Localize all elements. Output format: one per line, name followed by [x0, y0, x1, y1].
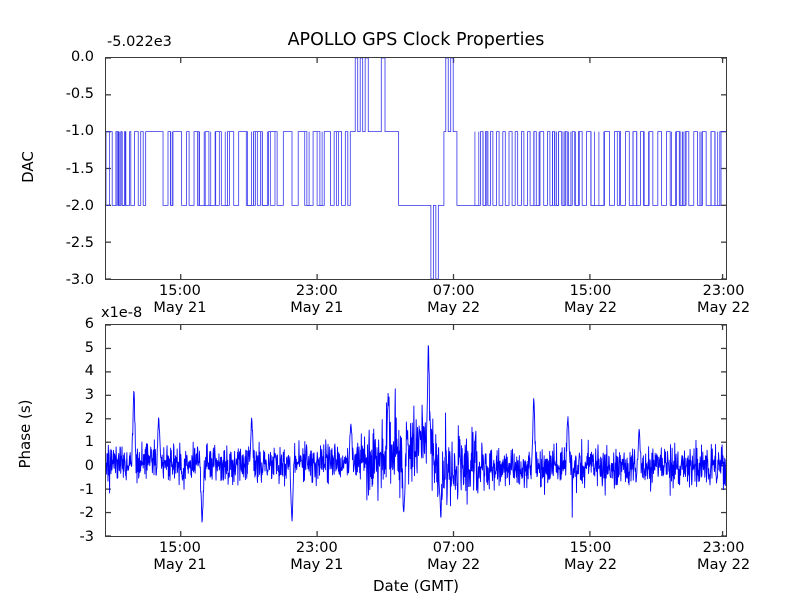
- x-tick-label: 23:00May 22: [697, 283, 750, 317]
- y-tick-label: 5: [85, 340, 100, 356]
- y-tick-label: -0.5: [66, 86, 100, 102]
- y-tick-label: 3: [85, 387, 100, 403]
- y-tick-label: -3: [80, 529, 100, 545]
- y-tick-label: -3.0: [66, 272, 100, 288]
- page-title: APOLLO GPS Clock Properties: [105, 30, 727, 50]
- x-tick-label: 15:00May 22: [564, 540, 617, 574]
- y-tick-label: 6: [85, 316, 100, 332]
- x-tick-label: 23:00May 21: [290, 283, 343, 317]
- x-tick-label: 15:00May 22: [564, 283, 617, 317]
- phase-line-chart: [106, 325, 726, 536]
- y-tick-label: -1.5: [66, 161, 100, 177]
- x-axis-label: Date (GMT): [105, 577, 727, 595]
- x-tick-label: 15:00May 21: [153, 540, 206, 574]
- dac-y-offset-label: -5.022e3: [107, 34, 172, 50]
- x-tick-label: 07:00May 22: [427, 283, 480, 317]
- y-tick-label: 2: [85, 411, 100, 427]
- dac-line-chart: [106, 58, 726, 279]
- y-tick-label: -1: [80, 482, 100, 498]
- y-tick-label: -2.5: [66, 235, 100, 251]
- x-tick-label: 07:00May 22: [427, 540, 480, 574]
- x-tick-label: 23:00May 22: [697, 540, 750, 574]
- y-tick-label: 0: [85, 458, 100, 474]
- dac-y-axis-ticks: 0.0-0.5-1.0-1.5-2.0-2.5-3.0: [0, 57, 100, 280]
- x-tick-label: 15:00May 21: [153, 283, 206, 317]
- dac-y-axis-label: DAC: [19, 137, 37, 197]
- y-tick-label: 4: [85, 363, 100, 379]
- phase-y-axis-ticks: 6543210-1-2-3: [0, 324, 100, 537]
- y-tick-label: -2: [80, 505, 100, 521]
- dac-plot-area: [105, 57, 727, 280]
- phase-y-offset-label: x1e-8: [101, 305, 142, 321]
- matplotlib-figure: APOLLO GPS Clock Properties -5.022e3 0.0…: [0, 0, 800, 600]
- phase-y-axis-label: Phase (s): [16, 399, 34, 469]
- x-tick-label: 23:00May 21: [290, 540, 343, 574]
- y-tick-label: 1: [85, 434, 100, 450]
- phase-plot-area: [105, 324, 727, 537]
- y-tick-label: -2.0: [66, 198, 100, 214]
- y-tick-label: -1.0: [66, 123, 100, 139]
- dac-x-axis-ticks: 15:00May 2123:00May 2107:00May 2215:00Ma…: [105, 283, 727, 327]
- y-tick-label: 0.0: [71, 49, 100, 65]
